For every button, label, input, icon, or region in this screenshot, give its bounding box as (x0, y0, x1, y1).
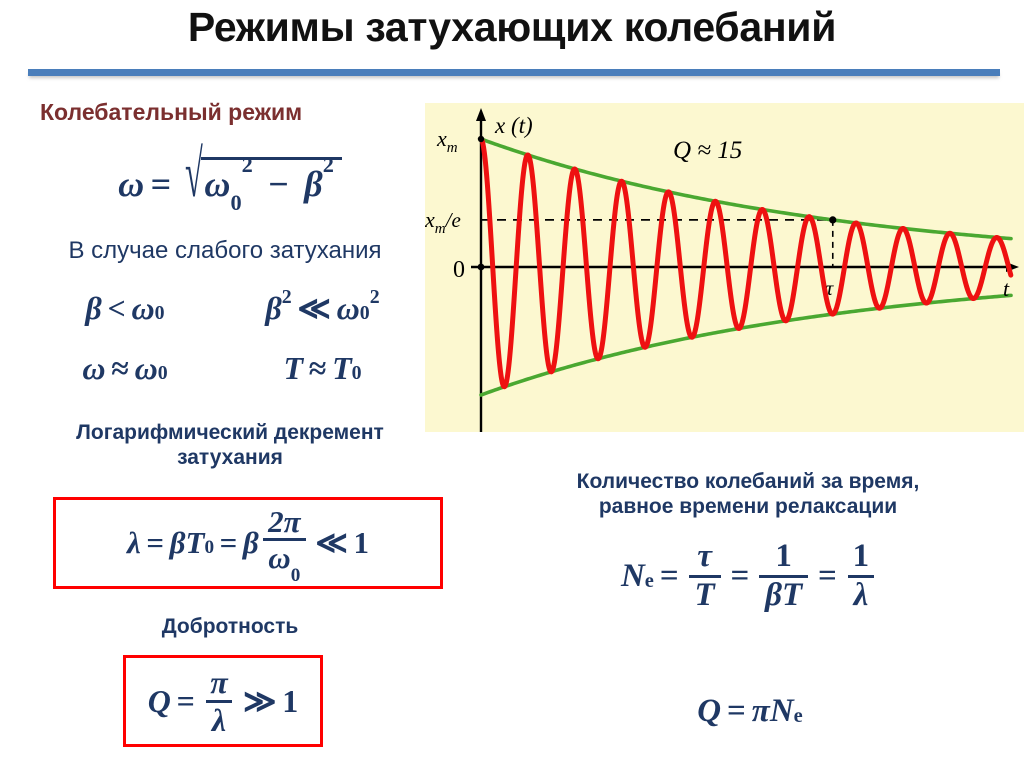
equals-sign: = (812, 558, 843, 595)
omega-symbol: ω (132, 290, 155, 327)
period-symbol: T (332, 350, 352, 387)
period-subscript: 0 (204, 537, 214, 559)
fraction-denominator: T (689, 575, 721, 613)
much-greater-than-sign: ≫ (237, 682, 282, 720)
relaxation-point (829, 216, 836, 223)
formula-number-of-oscillations: Ne = τ T = 1 βT = 1 λ (520, 530, 980, 622)
y-axis-label: x (t) (494, 113, 533, 138)
approx-sign: ≈ (106, 350, 135, 387)
inequality-period-approx: T ≈ T0 (215, 345, 430, 391)
equals-sign: = (654, 558, 685, 595)
fraction-pi-over-lambda: π λ (204, 666, 233, 736)
quality-annotation: Q ≈ 15 (673, 137, 742, 164)
formula-omega-definition: ω = √ ω02 − β2 (30, 148, 430, 220)
beta-symbol: β (170, 525, 186, 561)
N-subscript-e: e (794, 705, 803, 728)
beta-symbol: β (765, 577, 782, 613)
count-heading-line-2: равное времени релаксации (498, 495, 998, 520)
formula-log-decrement: λ = βT0 = β 2π ω0 ≪ 1 (56, 500, 440, 586)
ytick-xm: xm (436, 126, 458, 156)
equals-sign: = (171, 683, 201, 720)
ytick-zero: 0 (453, 257, 465, 283)
inequality-beta-less-omega0: β < ω0 (30, 285, 220, 331)
one-literal: 1 (353, 525, 369, 561)
damped-oscillation-curve (481, 139, 1011, 387)
fraction-denominator: λ (848, 575, 875, 613)
x-axis-label: t (1003, 276, 1010, 301)
equals-sign: = (725, 558, 756, 595)
omega-subscript: 0 (155, 302, 165, 325)
beta-exponent: 2 (282, 286, 292, 309)
inequality-omega-approx-omega0: ω ≈ ω0 (30, 345, 220, 391)
equals-sign: = (141, 525, 170, 561)
equals-sign: = (721, 693, 752, 730)
period-symbol: T (186, 525, 205, 561)
log-decrement-heading: Логарифмический декремент затухания (40, 421, 420, 471)
approx-sign: ≈ (303, 350, 332, 387)
omega-subscript: 0 (360, 302, 370, 325)
equals-sign: = (144, 163, 177, 205)
fraction-denominator: ω0 (263, 538, 306, 580)
formula-quality-factor: Q = π λ ≫ 1 (126, 658, 320, 744)
Q-symbol: Q (148, 683, 171, 720)
N-symbol: N (621, 558, 645, 595)
equals-sign: = (214, 525, 243, 561)
beta-base: β (304, 164, 322, 204)
xtick-tau: τ (826, 276, 835, 300)
fraction-denominator: βT (759, 575, 808, 613)
one-literal: 1 (282, 683, 298, 720)
fraction-numerator: 1 (847, 540, 875, 575)
fraction-tau-over-T: τ T (689, 540, 721, 612)
upper-envelope-curve (481, 139, 1011, 239)
fraction-numerator: π (204, 666, 233, 700)
less-than-sign: < (102, 290, 132, 327)
count-oscillations-heading: Количество колебаний за время, равное вр… (498, 470, 998, 520)
pi-symbol: π (752, 693, 770, 730)
period-symbol: T (283, 350, 303, 387)
fraction-numerator: 2π (263, 506, 307, 539)
omega-symbol: ω (337, 290, 360, 327)
origin-point (478, 264, 485, 271)
fraction-one-over-lambda: 1 λ (847, 540, 875, 612)
N-symbol: N (770, 693, 794, 730)
fraction-two-pi-over-omega0: 2π ω0 (263, 506, 307, 580)
lambda-formula-box: λ = βT0 = β 2π ω0 ≪ 1 (53, 497, 443, 589)
minus-sign: − (262, 164, 295, 204)
radical-sign: √ (185, 141, 203, 239)
square-root-construct: √ ω02 − β2 (184, 157, 342, 210)
fraction-numerator: 1 (769, 540, 797, 575)
period-symbol: T (782, 577, 802, 613)
N-subscript-e: e (645, 570, 654, 593)
page-title: Режимы затухающих колебаний (0, 4, 1024, 51)
omega-exponent: 2 (370, 286, 380, 309)
damped-oscillation-chart: x (t) t Q ≈ 15 xm xm/e 0 τ (425, 103, 1024, 432)
inequality-beta-squared-much-less: β2 ≪ ω02 (215, 285, 430, 331)
omega-zero-subscript: 0 (230, 190, 241, 215)
weak-damping-text: В случае слабого затухания (20, 237, 430, 265)
omega-zero-base: ω (204, 164, 230, 204)
beta-symbol: β (243, 525, 259, 561)
oscillatory-regime-label: Колебательный режим (40, 99, 420, 126)
beta-symbol: β (85, 290, 101, 327)
omega-symbol: ω (82, 350, 105, 387)
formula-Q-equals-pi-Ne: Q = πNe (520, 684, 980, 738)
ytick-xm-over-e: xm/e (425, 207, 461, 237)
omega-symbol: ω (268, 540, 290, 575)
fraction-numerator: τ (691, 540, 718, 575)
fraction-one-over-beta-T: 1 βT (759, 540, 808, 612)
Q-symbol: Q (697, 693, 721, 730)
omega-zero-exponent: 2 (242, 152, 253, 177)
period-subscript: 0 (352, 362, 362, 385)
omega-subscript: 0 (291, 565, 301, 586)
count-heading-line-1: Количество колебаний за время, (498, 470, 998, 495)
quality-formula-box: Q = π λ ≫ 1 (123, 655, 323, 747)
much-less-than-sign: ≪ (310, 525, 354, 561)
omega-symbol: ω (118, 163, 144, 205)
fraction-denominator: λ (206, 700, 232, 737)
lambda-symbol: λ (127, 525, 141, 561)
title-underline-rule (28, 69, 1000, 76)
omega-subscript: 0 (158, 362, 168, 385)
quality-factor-heading: Добротность (40, 615, 420, 640)
xm-start-point (478, 136, 484, 142)
omega-symbol: ω (135, 350, 158, 387)
beta-exponent: 2 (323, 152, 334, 177)
y-axis-arrowhead (476, 108, 486, 121)
chart-svg: x (t) t Q ≈ 15 xm xm/e 0 τ (425, 103, 1024, 432)
radicand: ω02 − β2 (201, 157, 341, 210)
much-less-than-sign: ≪ (292, 289, 337, 327)
beta-symbol: β (265, 290, 281, 327)
